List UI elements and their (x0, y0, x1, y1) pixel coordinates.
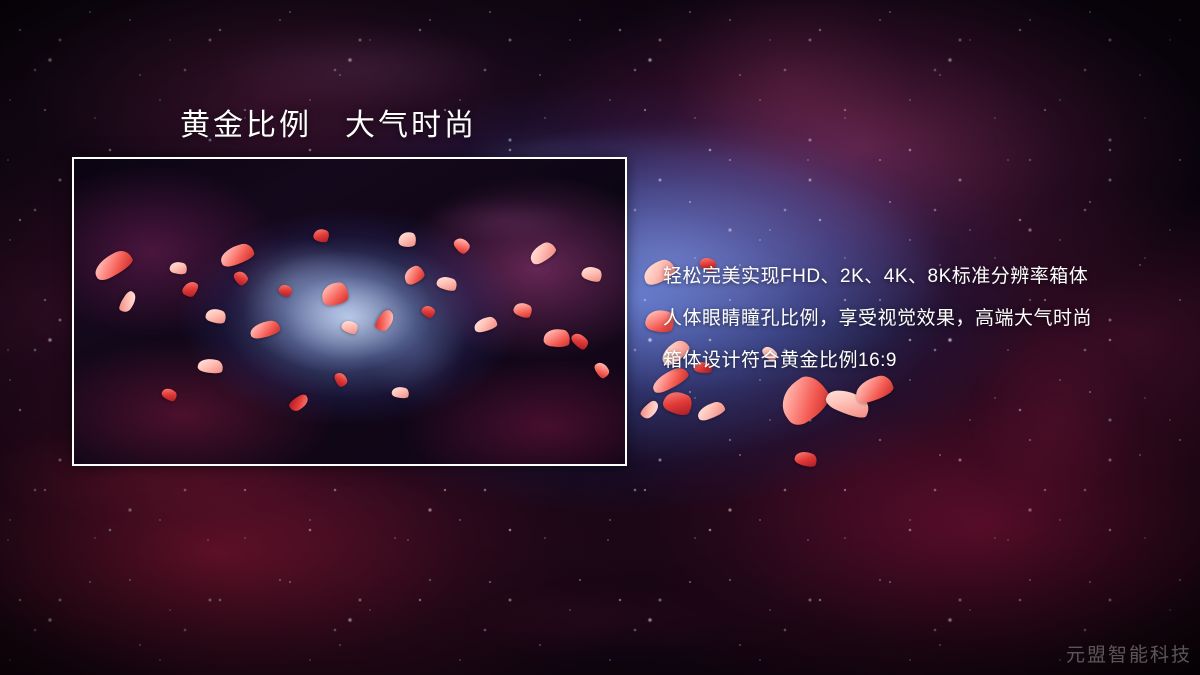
panel-nebula-image (74, 159, 625, 464)
watermark-text: 元盟智能科技 (1066, 640, 1192, 667)
rose-petal (823, 384, 872, 422)
image-panel-frame (72, 157, 627, 466)
body-line-1: 轻松完美实现FHD、2K、4K、8K标准分辨率箱体 (663, 256, 1092, 298)
rose-petal (695, 400, 726, 423)
body-text-block: 轻松完美实现FHD、2K、4K、8K标准分辨率箱体 人体眼睛瞳孔比例，享受视觉效… (663, 256, 1092, 382)
presentation-slide: 黄金比例 大气时尚 轻松完美实现FHD、2K、4K、8K标准分辨率箱体 人体眼睛… (0, 0, 1200, 675)
rose-petal (793, 449, 818, 469)
body-line-2: 人体眼睛瞳孔比例，享受视觉效果，高端大气时尚 (663, 298, 1092, 340)
rose-petal (638, 399, 661, 421)
slide-title: 黄金比例 大气时尚 (180, 100, 477, 144)
panel-nebula-wisps (74, 159, 625, 464)
rose-petal (661, 387, 696, 418)
body-line-3: 箱体设计符合黄金比例16:9 (663, 340, 1092, 382)
